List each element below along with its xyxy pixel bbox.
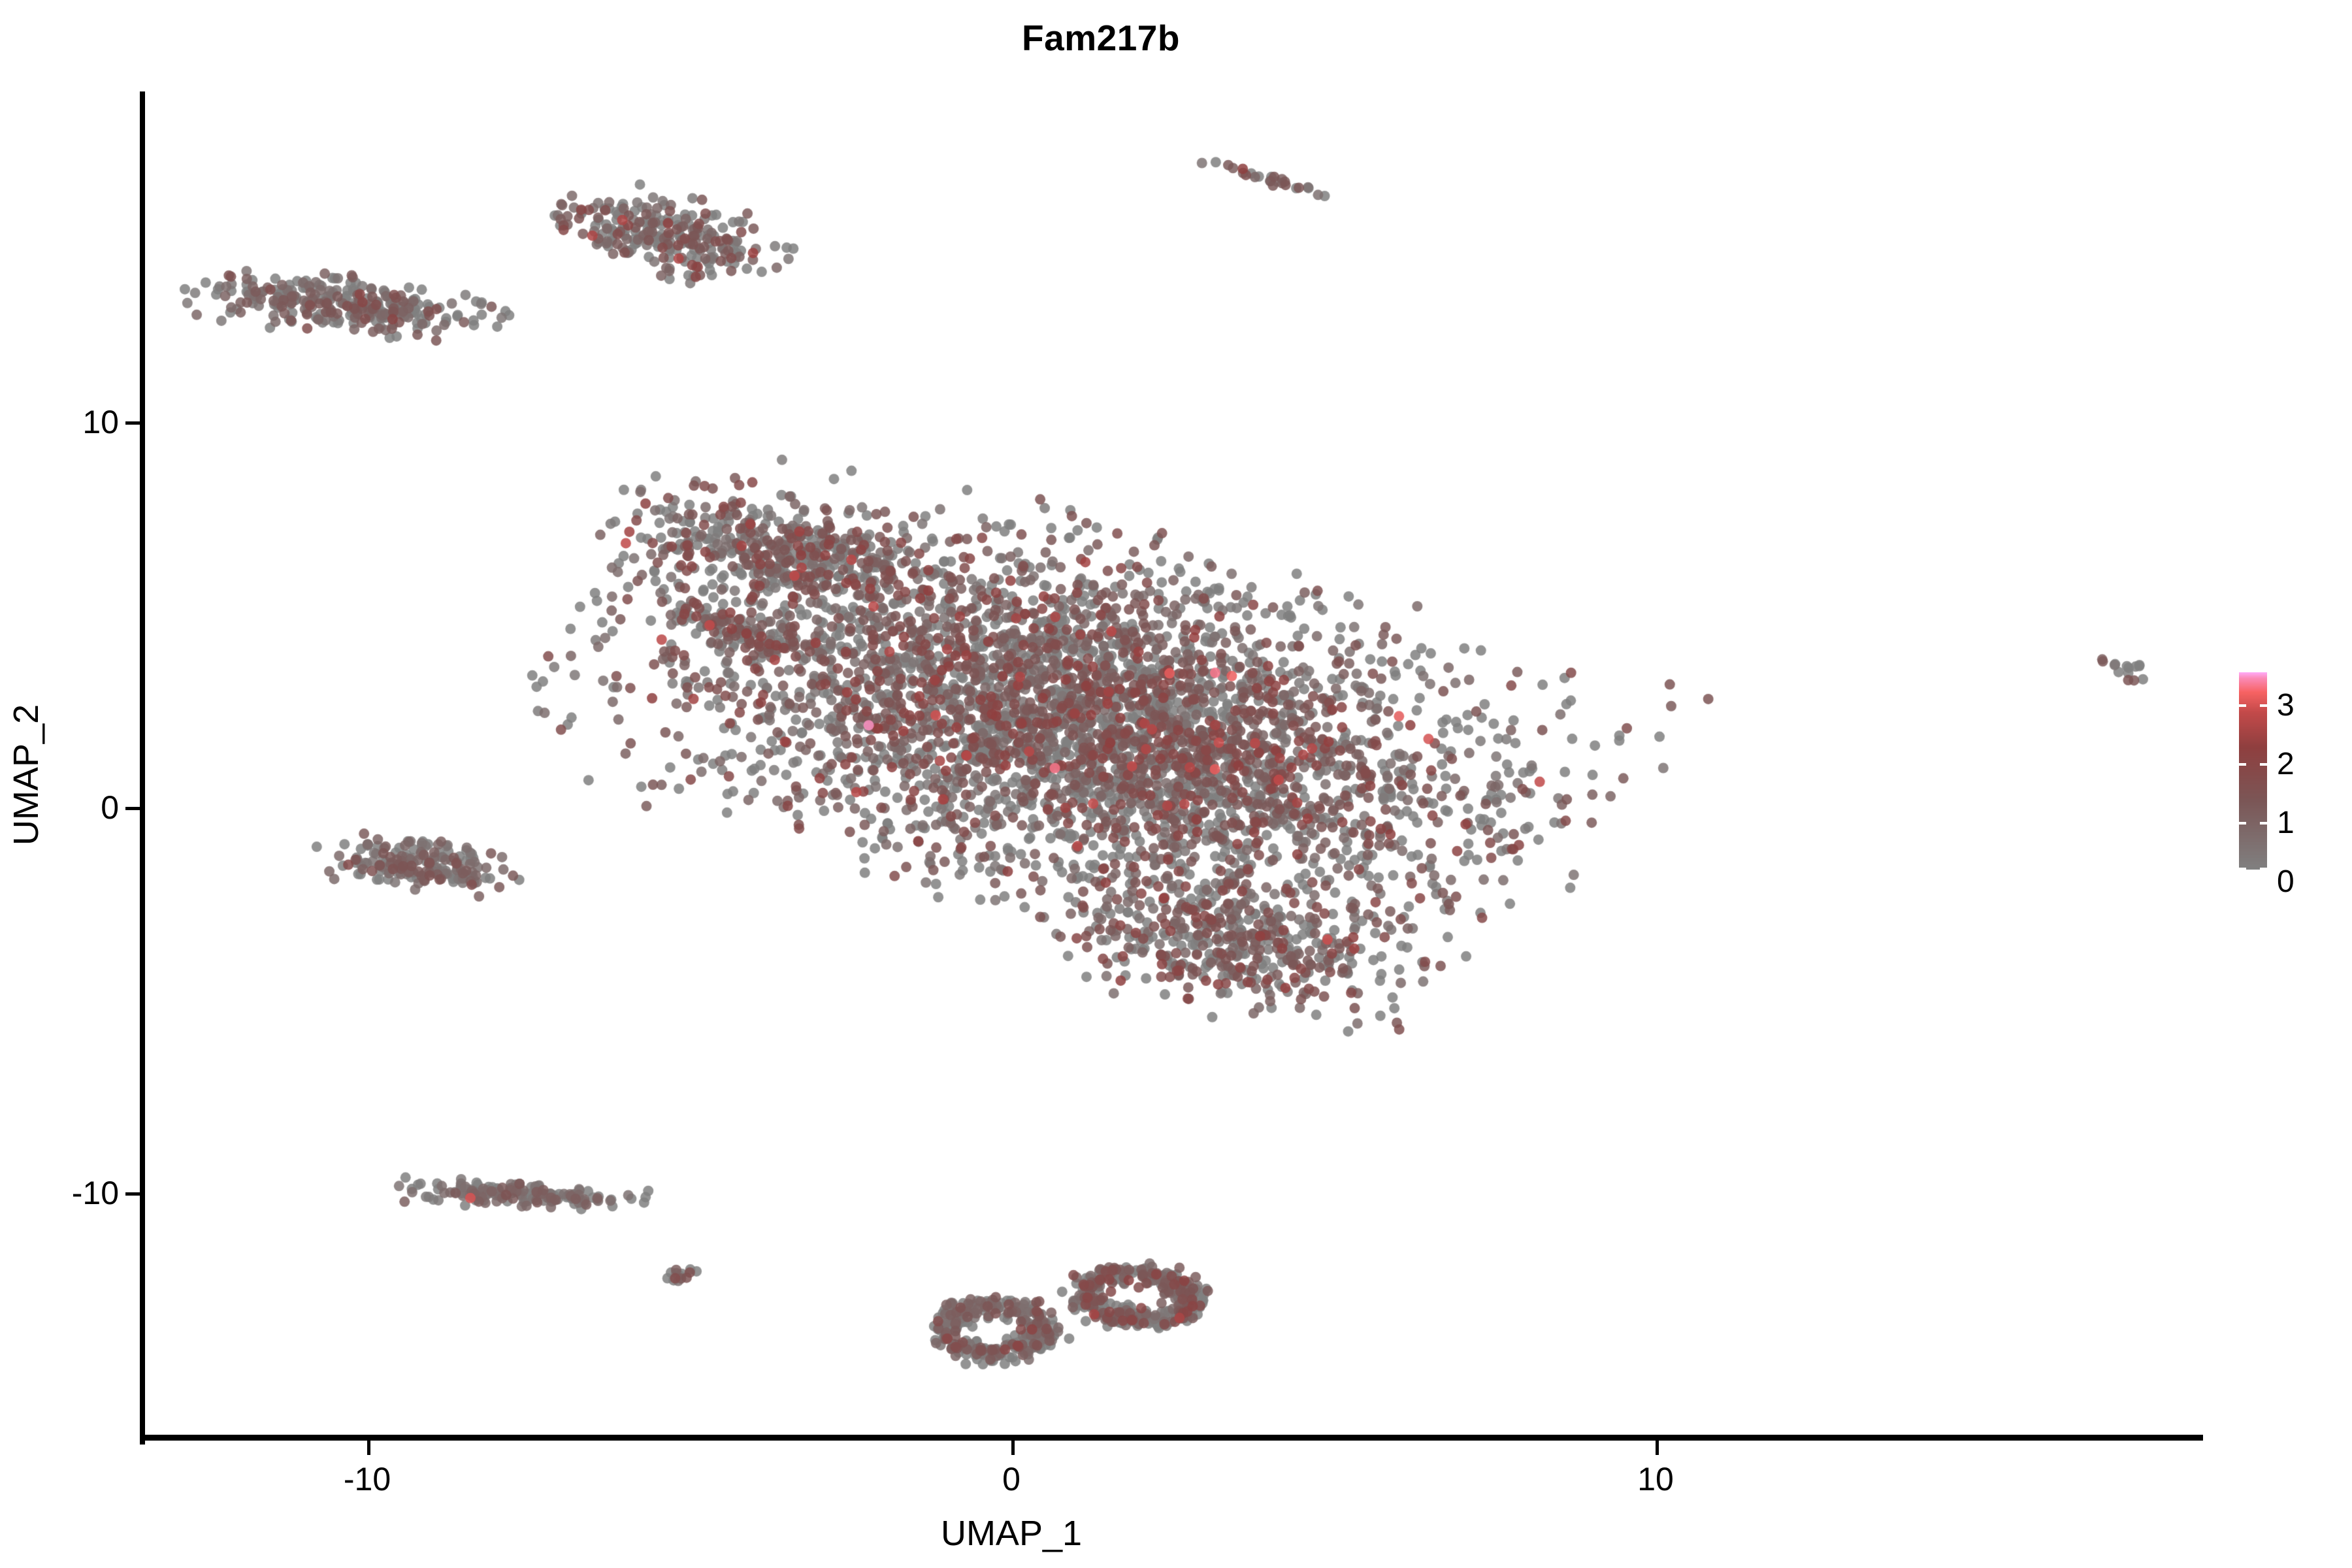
x-axis-title: UMAP_1 bbox=[941, 1513, 1082, 1554]
y-tick-label-neg10: -10 bbox=[72, 1174, 119, 1212]
y-tick-mark-0 bbox=[125, 807, 140, 810]
y-tick-label-0: 0 bbox=[101, 789, 119, 826]
y-tick-label-10: 10 bbox=[82, 403, 119, 441]
y-axis-title: UMAP_2 bbox=[6, 546, 46, 1004]
colorbar-label-3: 3 bbox=[2277, 690, 2295, 721]
scatter-points-canvas bbox=[144, 91, 2203, 1439]
plot-panel bbox=[144, 91, 2203, 1439]
y-tick-mark-neg10 bbox=[125, 1192, 140, 1196]
y-axis-line bbox=[140, 91, 145, 1445]
y-tick-mark-10 bbox=[125, 421, 140, 425]
colorbar-label-2: 2 bbox=[2277, 749, 2295, 780]
x-tick-label-0: 0 bbox=[1002, 1460, 1021, 1498]
x-tick-mark-10 bbox=[1656, 1441, 1659, 1455]
x-tick-label-10: 10 bbox=[1637, 1460, 1674, 1498]
colorbar-label-1: 1 bbox=[2277, 808, 2295, 839]
colorbar-gradient bbox=[2239, 672, 2267, 870]
x-tick-label-neg10: -10 bbox=[344, 1460, 391, 1498]
colorbar-legend: 3 2 1 0 bbox=[2239, 672, 2337, 870]
colorbar-label-0: 0 bbox=[2277, 866, 2295, 898]
umap-feature-plot: Fam217b 10 0 -10 -10 0 10 UMAP_1 UMAP_2 … bbox=[0, 0, 2352, 1568]
x-axis-line bbox=[140, 1435, 2203, 1441]
x-tick-mark-0 bbox=[1011, 1441, 1015, 1455]
x-tick-mark-neg10 bbox=[367, 1441, 370, 1455]
page-title: Fam217b bbox=[0, 17, 2202, 59]
